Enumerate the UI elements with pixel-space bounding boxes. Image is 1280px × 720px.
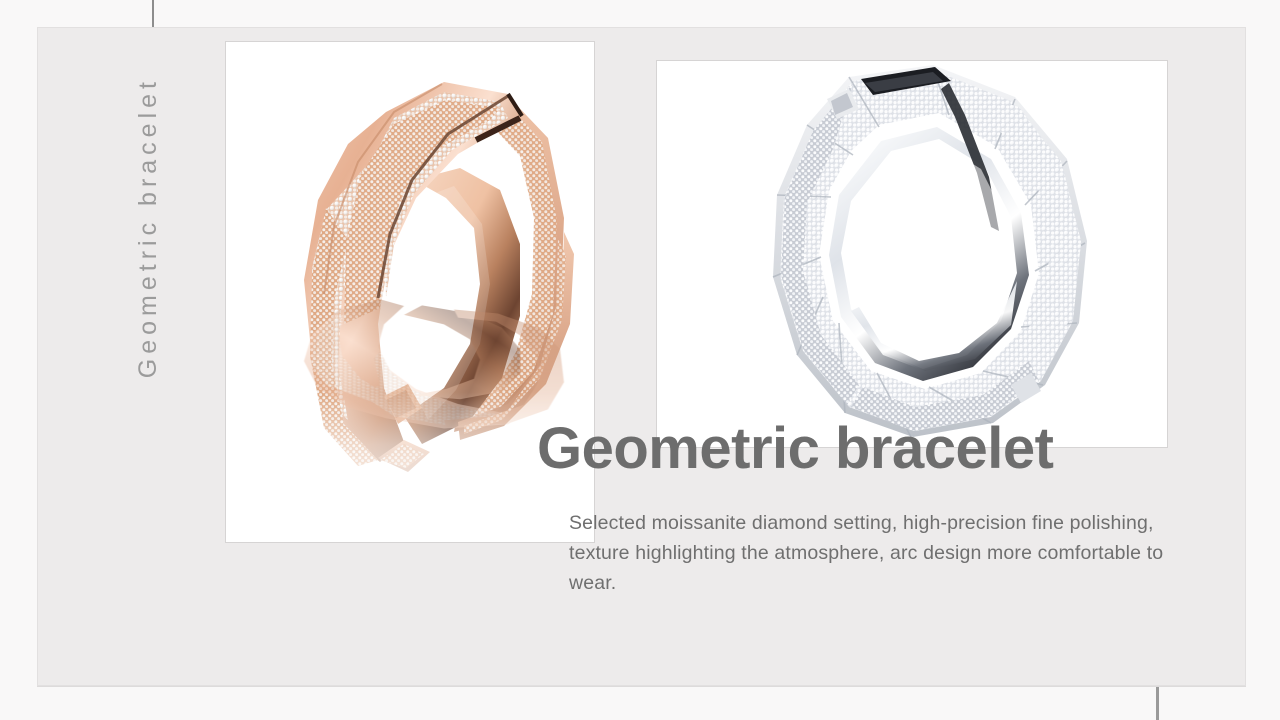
white-gold-photo-inner <box>657 61 1167 447</box>
white-gold-bangle-illustration <box>753 60 1133 448</box>
vertical-caption: Geometric bracelet <box>152 75 163 405</box>
description-paragraph: Selected moissanite diamond setting, hig… <box>569 508 1179 598</box>
vertical-caption-label: Geometric bracelet <box>134 77 163 378</box>
slide-canvas: Geometric bracelet <box>0 0 1280 720</box>
page-title: Geometric bracelet <box>537 419 1053 480</box>
white-gold-bangle-photo <box>656 60 1168 448</box>
description-text: Selected moissanite diamond setting, hig… <box>569 508 1179 598</box>
